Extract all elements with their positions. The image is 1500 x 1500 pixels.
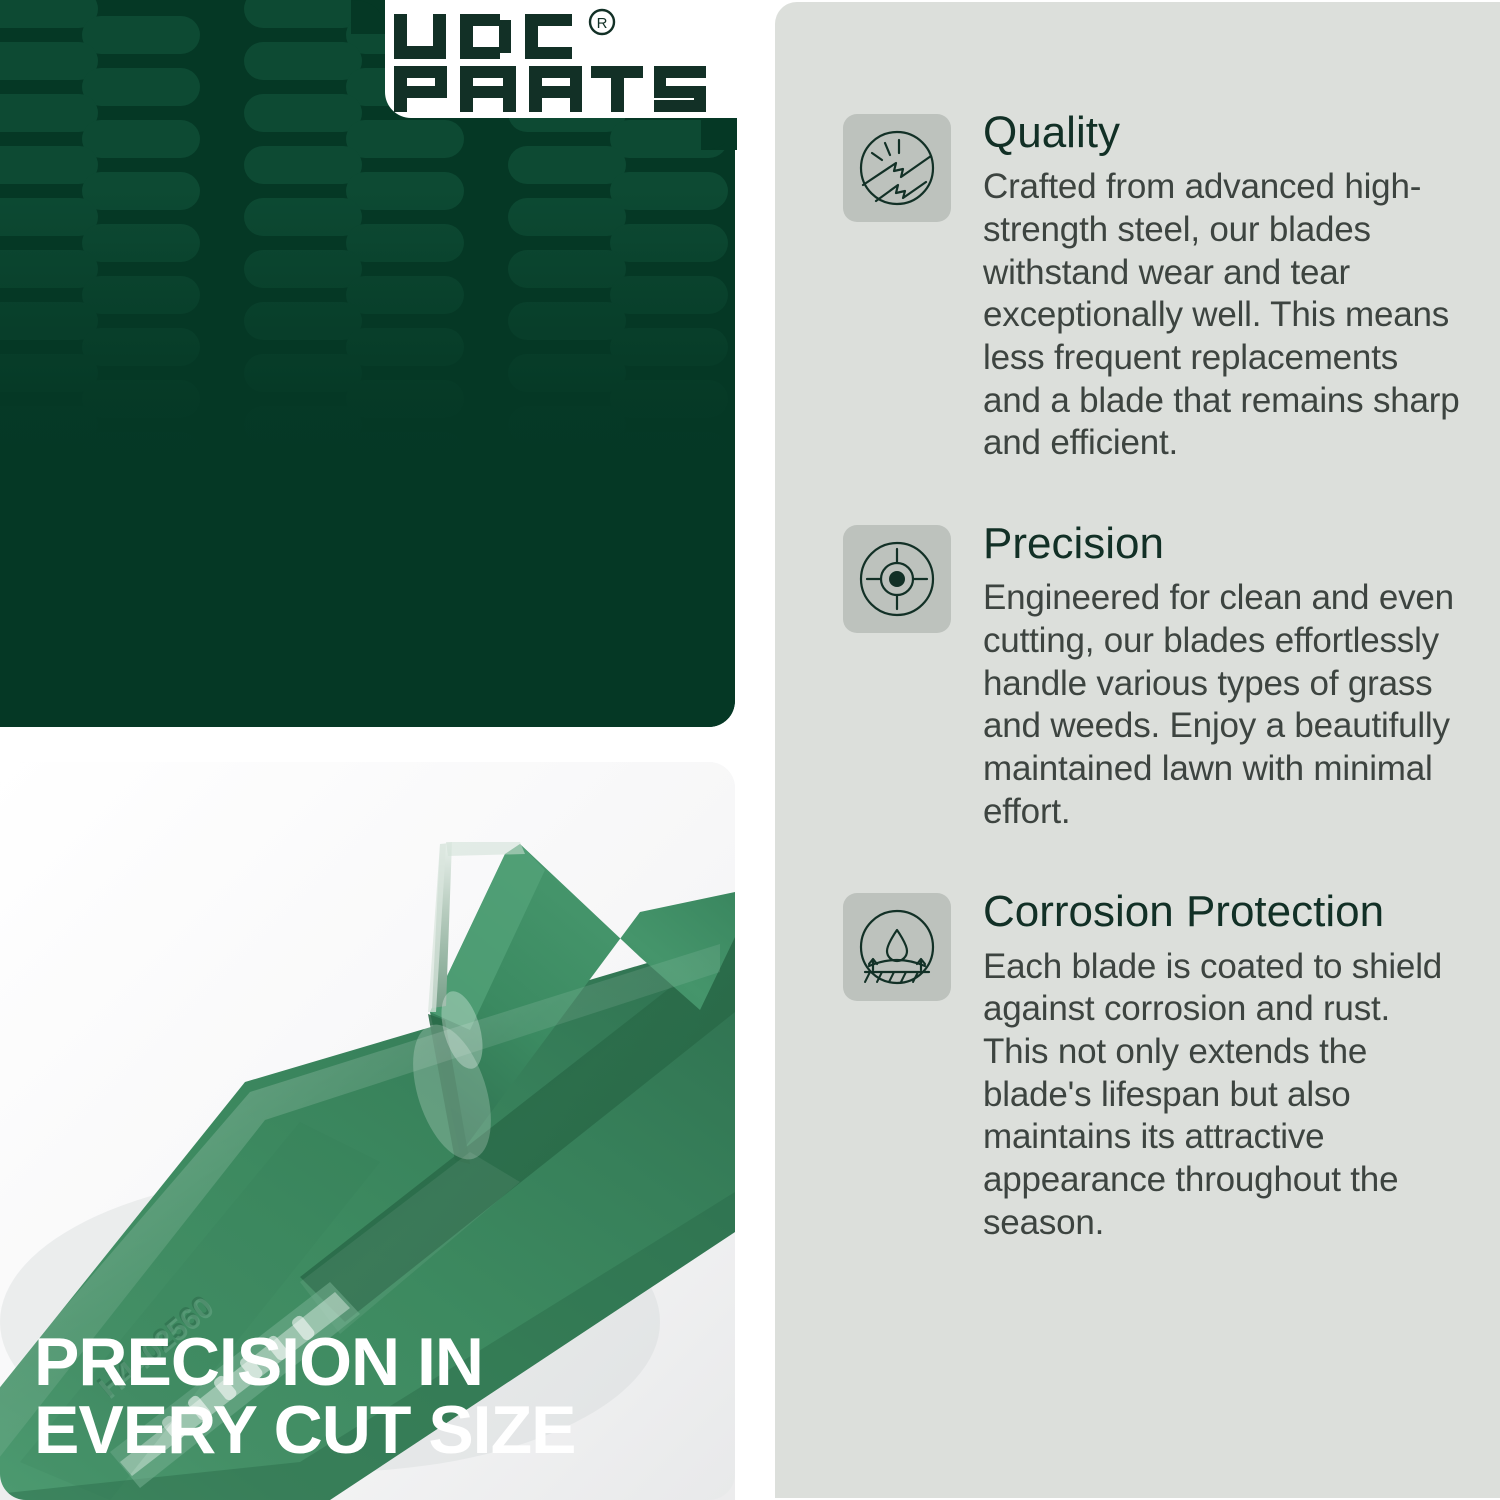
feature-body: Quality Crafted from advanced high-stren…	[983, 110, 1463, 465]
feature-precision: Precision Engineered for clean and even …	[843, 521, 1463, 833]
cracked-shield-icon	[843, 114, 951, 222]
feature-corrosion-protection: Corrosion Protection Each blade is coate…	[843, 889, 1463, 1244]
feature-title: Corrosion Protection	[983, 889, 1463, 935]
notch-corner-fillet-left	[351, 0, 385, 34]
feature-title: Precision	[983, 521, 1463, 567]
features-panel: Quality Crafted from advanced high-stren…	[775, 2, 1500, 1498]
left-column: R	[0, 0, 740, 1500]
feature-body: Corrosion Protection Each blade is coate…	[983, 889, 1463, 1244]
svg-text:R: R	[597, 15, 608, 32]
feature-title: Quality	[983, 110, 1463, 156]
feature-body: Precision Engineered for clean and even …	[983, 521, 1463, 833]
hero-headline: PRECISION IN EVERY CUT SIZE	[34, 1329, 634, 1464]
water-droplet-repel-icon	[843, 893, 951, 1001]
feature-description: Engineered for clean and even cutting, o…	[983, 577, 1463, 833]
udc-parts-logo[interactable]: R	[392, 8, 712, 114]
notch-corner-fillet-right	[701, 114, 737, 150]
features-list: Quality Crafted from advanced high-stren…	[843, 110, 1463, 1244]
feature-quality: Quality Crafted from advanced high-stren…	[843, 110, 1463, 465]
feature-description: Each blade is coated to shield against c…	[983, 946, 1463, 1245]
crosshair-target-icon	[843, 525, 951, 633]
feature-description: Crafted from advanced high-strength stee…	[983, 166, 1463, 465]
